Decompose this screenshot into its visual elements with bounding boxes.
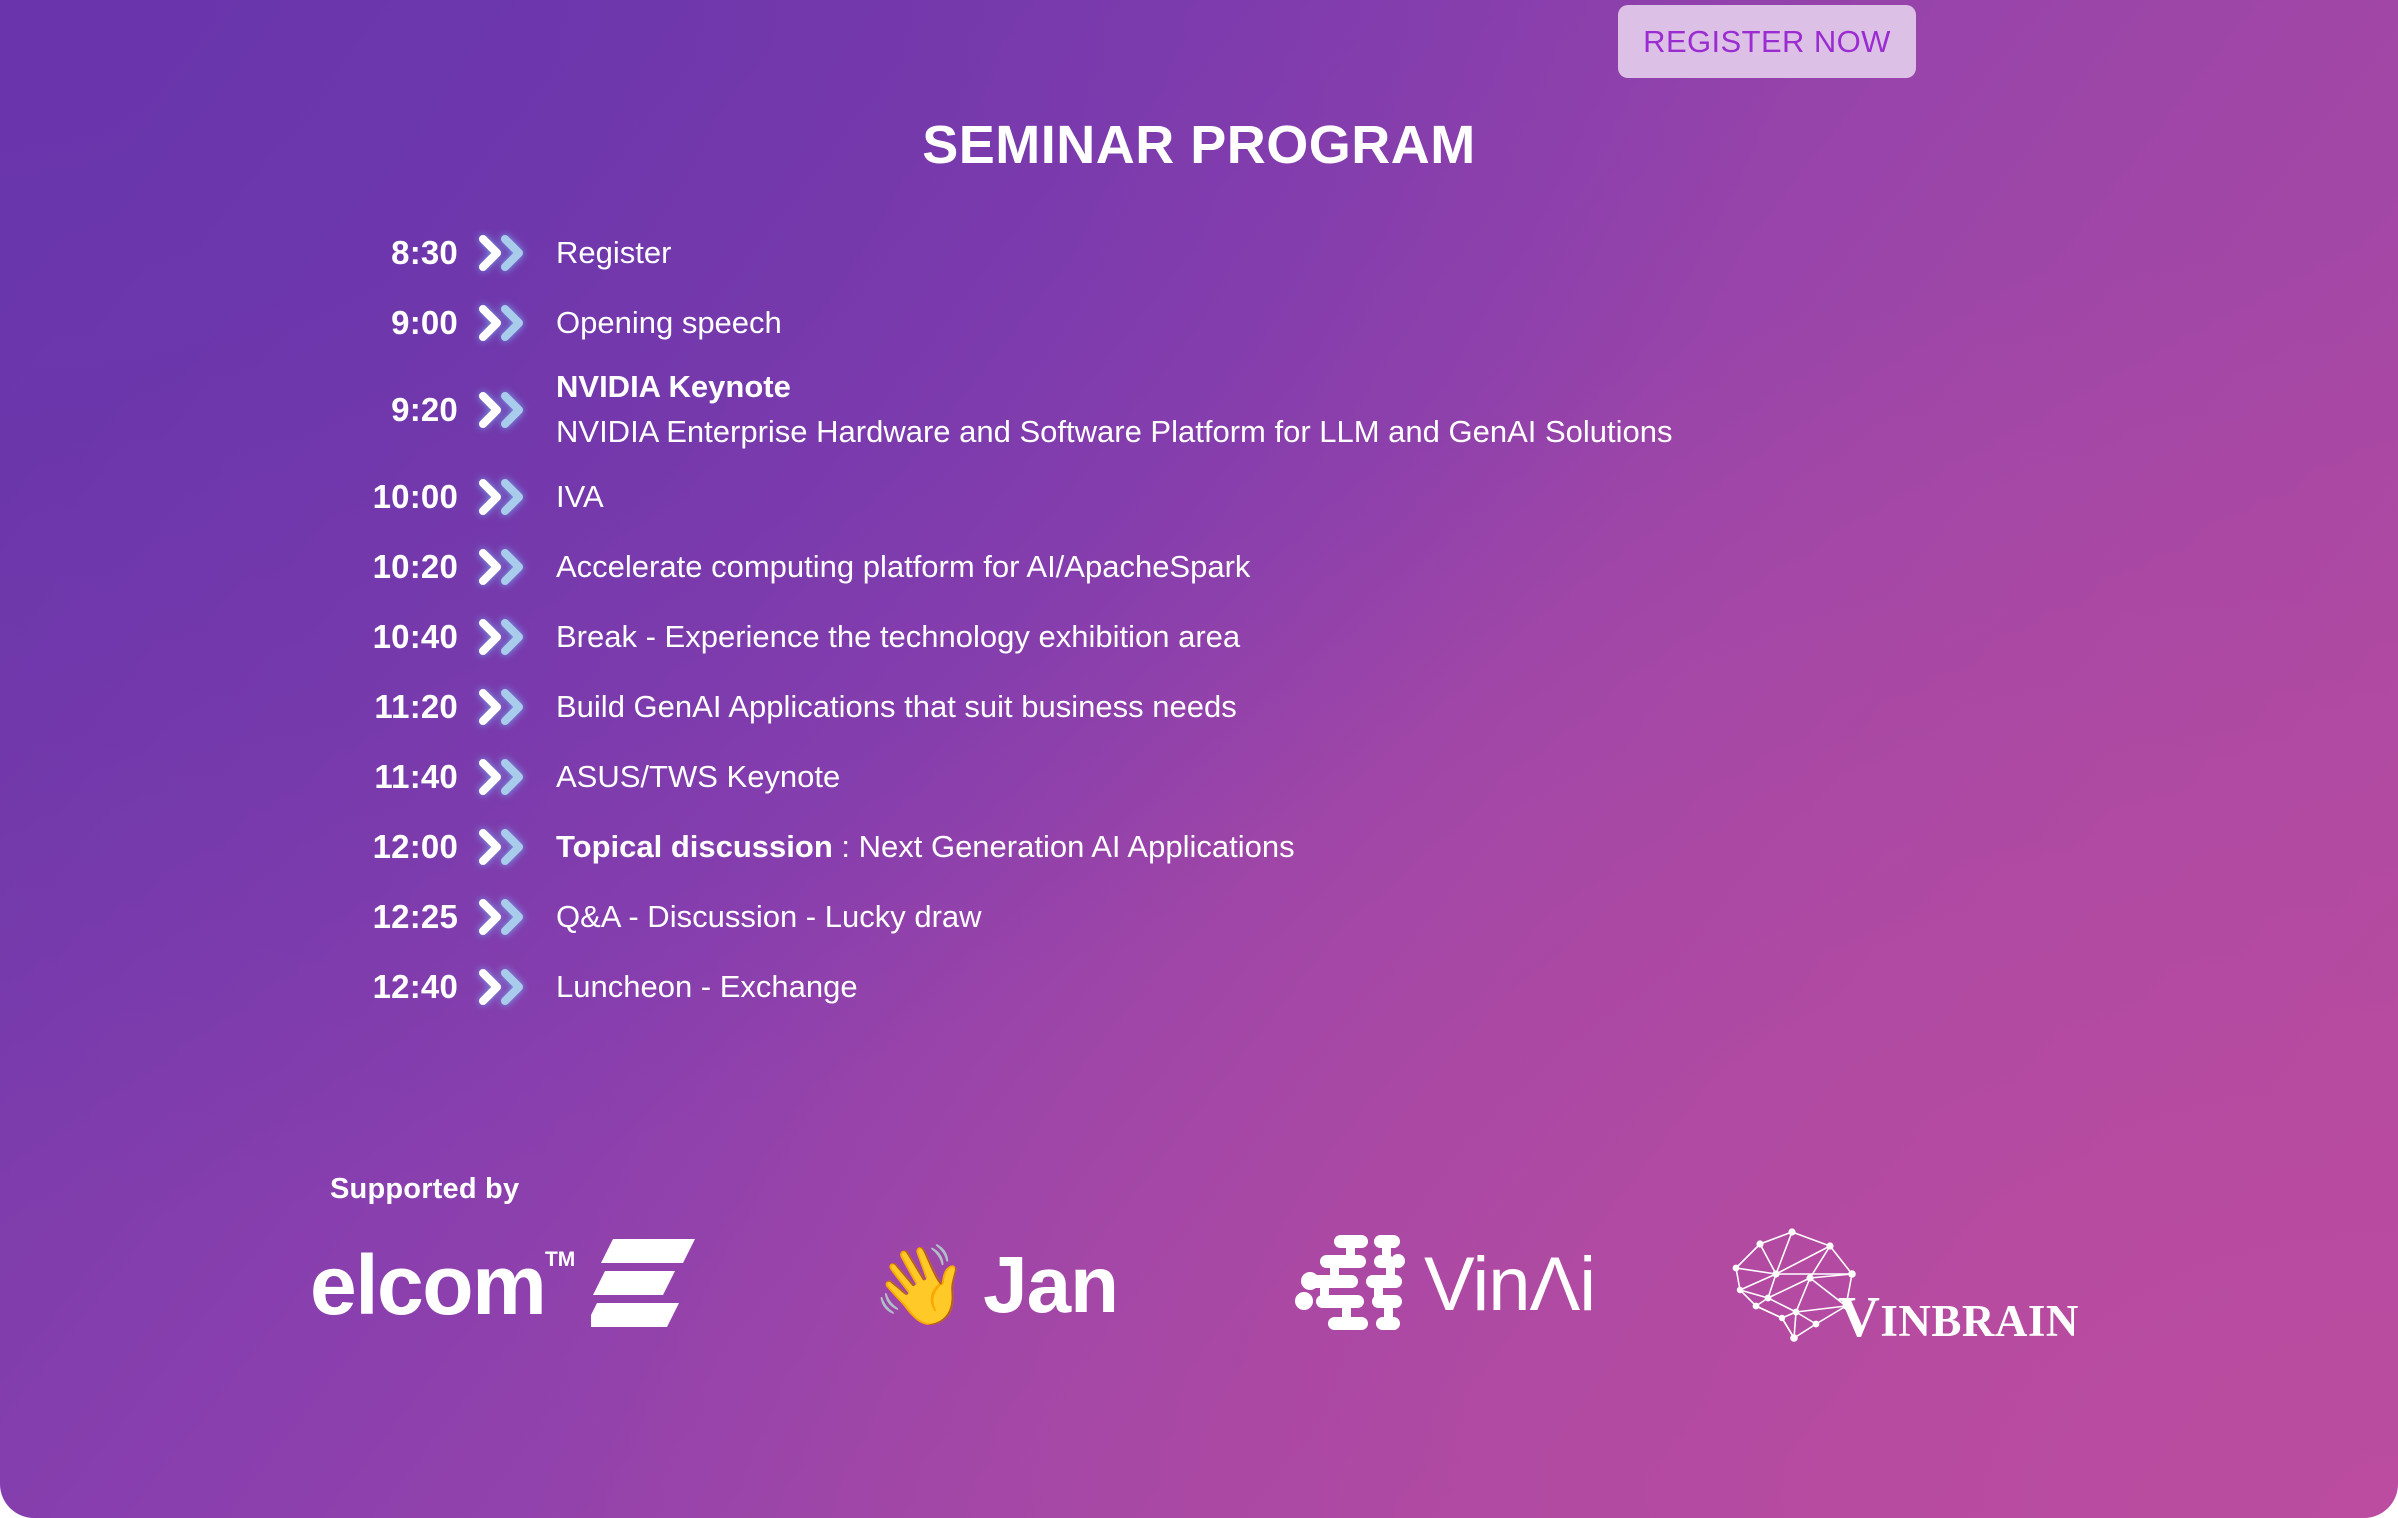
schedule-row: 10:20 Accelerate computing platform for … xyxy=(330,532,2030,602)
double-chevron-right-icon xyxy=(458,305,556,341)
schedule-text: Topical discussion : Next Generation AI … xyxy=(556,827,2030,867)
trademark-icon: TM xyxy=(545,1249,575,1270)
schedule-text: Register xyxy=(556,233,2030,273)
schedule-row: 12:40 Luncheon - Exchange xyxy=(330,952,2030,1022)
schedule-time: 12:00 xyxy=(330,828,458,866)
schedule-title: NVIDIA Keynote xyxy=(556,367,2030,408)
schedule-list: 8:30 Register 9:00 Opening speech 9:20 N… xyxy=(330,218,2030,1022)
schedule-text: IVA xyxy=(556,477,2030,517)
double-chevron-right-icon xyxy=(458,549,556,585)
schedule-text: Build GenAI Applications that suit busin… xyxy=(556,687,2030,727)
schedule-text: Luncheon - Exchange xyxy=(556,967,2030,1007)
double-chevron-right-icon xyxy=(458,829,556,865)
schedule-row: 10:40 Break - Experience the technology … xyxy=(330,602,2030,672)
schedule-row: 11:20 Build GenAI Applications that suit… xyxy=(330,672,2030,742)
schedule-text: Break - Experience the technology exhibi… xyxy=(556,617,2030,657)
schedule-text-bold: Topical discussion xyxy=(556,829,833,864)
schedule-time: 12:25 xyxy=(330,898,458,936)
schedule-subtitle: NVIDIA Enterprise Hardware and Software … xyxy=(556,412,2030,453)
double-chevron-right-icon xyxy=(458,479,556,515)
sponsor-logo-jan: 👋 Jan xyxy=(850,1215,1280,1355)
schedule-time: 11:20 xyxy=(330,688,458,726)
vinai-wordmark: VinΛi xyxy=(1424,1247,1595,1323)
schedule-row: 8:30 Register xyxy=(330,218,2030,288)
jan-wordmark: Jan xyxy=(983,1245,1118,1325)
schedule-row: 10:00 IVA xyxy=(330,462,2030,532)
schedule-time: 10:40 xyxy=(330,618,458,656)
sponsor-logo-vinbrain: VINBRAIN xyxy=(1710,1215,2130,1355)
schedule-time: 10:20 xyxy=(330,548,458,586)
elcom-wordmark-text: elcom xyxy=(310,1238,545,1332)
schedule-text: Opening speech xyxy=(556,303,2030,343)
schedule-row: 9:20 NVIDIA Keynote NVIDIA Enterprise Ha… xyxy=(330,358,2030,462)
schedule-time: 9:20 xyxy=(330,391,458,429)
schedule-text: Q&A - Discussion - Lucky draw xyxy=(556,897,2030,937)
vinai-circuit-mark-icon xyxy=(1290,1229,1408,1342)
double-chevron-right-icon xyxy=(458,235,556,271)
sponsor-logo-vinai: VinΛi xyxy=(1280,1215,1710,1355)
schedule-time: 9:00 xyxy=(330,304,458,342)
schedule-text: Accelerate computing platform for AI/Apa… xyxy=(556,547,2030,587)
sponsor-logos: elcom TM 👋 Jan xyxy=(310,1215,2160,1355)
schedule-row: 12:25 Q&A - Discussion - Lucky draw xyxy=(330,882,2030,952)
vinbrain-wordmark-rest: INBRAIN xyxy=(1880,1296,2079,1346)
supported-by-label: Supported by xyxy=(330,1173,519,1206)
seminar-program-slide: REGISTER NOW SEMINAR PROGRAM 8:30 Regist… xyxy=(0,0,2398,1518)
vinbrain-wordmark-cap: V xyxy=(1838,1284,1880,1349)
schedule-time: 12:40 xyxy=(330,968,458,1006)
schedule-time: 10:00 xyxy=(330,478,458,516)
double-chevron-right-icon xyxy=(458,619,556,655)
schedule-row: 11:40 ASUS/TWS Keynote xyxy=(330,742,2030,812)
schedule-time: 11:40 xyxy=(330,758,458,796)
schedule-row: 12:00 Topical discussion : Next Generati… xyxy=(330,812,2030,882)
elcom-e-mark-icon xyxy=(591,1235,699,1336)
schedule-time: 8:30 xyxy=(330,234,458,272)
double-chevron-right-icon xyxy=(458,392,556,428)
sponsor-logo-elcom: elcom TM xyxy=(310,1215,850,1355)
waving-hand-icon: 👋 xyxy=(872,1246,969,1324)
schedule-text-rest: : Next Generation AI Applications xyxy=(833,829,1295,864)
double-chevron-right-icon xyxy=(458,689,556,725)
schedule-row: 9:00 Opening speech xyxy=(330,288,2030,358)
schedule-text: ASUS/TWS Keynote xyxy=(556,757,2030,797)
elcom-wordmark: elcom TM xyxy=(310,1243,545,1327)
vinbrain-wordmark: VINBRAIN xyxy=(1838,1288,2079,1346)
double-chevron-right-icon xyxy=(458,759,556,795)
double-chevron-right-icon xyxy=(458,969,556,1005)
page-title: SEMINAR PROGRAM xyxy=(0,114,2398,176)
register-now-button[interactable]: REGISTER NOW xyxy=(1618,5,1916,78)
double-chevron-right-icon xyxy=(458,899,556,935)
